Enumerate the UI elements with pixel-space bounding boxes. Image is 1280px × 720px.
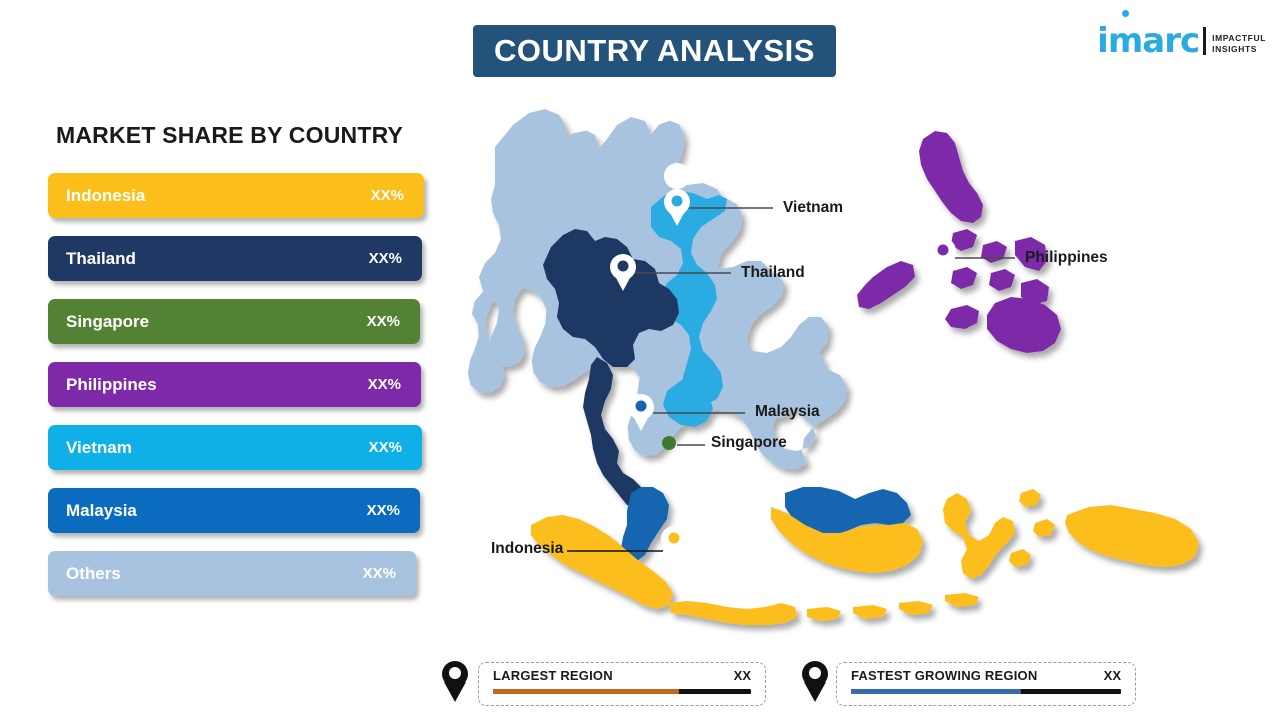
map-region-indonesia-maluku[interactable] bbox=[1009, 489, 1055, 567]
share-row-label: Singapore bbox=[66, 312, 149, 332]
map-label-singapore: Singapore bbox=[711, 434, 787, 452]
legend-progress-fill-largest bbox=[493, 689, 679, 694]
page-title: COUNTRY ANALYSIS bbox=[494, 33, 815, 69]
market-share-list: Indonesia XX% Thailand XX% Singapore XX%… bbox=[48, 173, 428, 614]
map-label-vietnam: Vietnam bbox=[783, 199, 843, 217]
share-row-value: XX% bbox=[369, 439, 402, 456]
map-region-indonesia-papua[interactable] bbox=[1065, 505, 1199, 567]
share-row-label: Vietnam bbox=[66, 438, 132, 458]
southeast-asia-map: Vietnam Thailand Philippines Malaysia Si… bbox=[455, 95, 1255, 635]
legend-progress-track-fastest bbox=[851, 689, 1121, 694]
map-region-philippines-luzon[interactable] bbox=[919, 131, 983, 223]
share-row-indonesia[interactable]: Indonesia XX% bbox=[48, 173, 424, 218]
legend-title-fastest: FASTEST GROWING REGION bbox=[851, 668, 1037, 683]
legend-progress-fill-fastest bbox=[851, 689, 1021, 694]
map-region-philippines-mindanao[interactable] bbox=[987, 297, 1061, 353]
logo-wordmark: imarc bbox=[1097, 24, 1199, 58]
share-row-thailand[interactable]: Thailand XX% bbox=[48, 236, 422, 281]
share-row-label: Others bbox=[66, 564, 121, 584]
logo-divider bbox=[1203, 27, 1206, 55]
map-region-philippines-palawan[interactable] bbox=[857, 261, 915, 309]
share-row-label: Philippines bbox=[66, 375, 157, 395]
market-share-heading: MARKET SHARE BY COUNTRY bbox=[56, 122, 403, 149]
share-row-value: XX% bbox=[367, 502, 400, 519]
share-row-philippines[interactable]: Philippines XX% bbox=[48, 362, 421, 407]
map-region-indonesia-sulawesi[interactable] bbox=[943, 493, 1015, 579]
share-row-value: XX% bbox=[371, 187, 404, 204]
map-label-malaysia: Malaysia bbox=[755, 403, 820, 421]
map-region-philippines-mindanao-west[interactable] bbox=[945, 305, 979, 329]
share-row-value: XX% bbox=[368, 376, 401, 393]
share-row-malaysia[interactable]: Malaysia XX% bbox=[48, 488, 420, 533]
share-row-label: Malaysia bbox=[66, 501, 137, 521]
map-region-indonesia-nusa-tenggara[interactable] bbox=[807, 593, 979, 621]
map-label-indonesia: Indonesia bbox=[491, 540, 563, 558]
page-title-banner: COUNTRY ANALYSIS bbox=[473, 25, 836, 77]
legend-title-largest: LARGEST REGION bbox=[493, 668, 613, 683]
share-row-label: Thailand bbox=[66, 249, 136, 269]
logo-dot-icon bbox=[1122, 10, 1129, 17]
map-pin-black-largest bbox=[440, 660, 470, 702]
map-label-thailand: Thailand bbox=[741, 264, 805, 282]
logo-tagline-line2: INSIGHTS bbox=[1212, 44, 1266, 55]
share-row-vietnam[interactable]: Vietnam XX% bbox=[48, 425, 422, 470]
map-svg bbox=[455, 95, 1255, 635]
map-region-indonesia-java[interactable] bbox=[669, 601, 797, 625]
share-row-label: Indonesia bbox=[66, 186, 145, 206]
legend-value-fastest: XX bbox=[1104, 668, 1121, 683]
map-region-philippines-visayas[interactable] bbox=[951, 229, 1049, 305]
legend-box-fastest-growing-region[interactable]: FASTEST GROWING REGION XX bbox=[836, 662, 1136, 706]
logo-tagline: IMPACTFUL INSIGHTS bbox=[1212, 33, 1266, 55]
logo-tagline-line1: IMPACTFUL bbox=[1212, 33, 1266, 44]
legend-box-largest-region[interactable]: LARGEST REGION XX bbox=[478, 662, 766, 706]
share-row-singapore[interactable]: Singapore XX% bbox=[48, 299, 420, 344]
map-pin-white-philippines[interactable] bbox=[930, 238, 956, 275]
map-pin-white-indonesia[interactable] bbox=[661, 526, 687, 563]
legend-value-largest: XX bbox=[734, 668, 751, 683]
share-row-value: XX% bbox=[369, 250, 402, 267]
map-pin-black-fastest bbox=[800, 660, 830, 702]
imarc-logo: imarc IMPACTFUL INSIGHTS bbox=[1097, 14, 1266, 58]
share-row-value: XX% bbox=[367, 313, 400, 330]
share-row-others[interactable]: Others XX% bbox=[48, 551, 416, 596]
legend-progress-track-largest bbox=[493, 689, 751, 694]
share-row-value: XX% bbox=[363, 565, 396, 582]
green-dot-singapore[interactable] bbox=[662, 436, 676, 450]
map-label-philippines: Philippines bbox=[1025, 249, 1108, 267]
